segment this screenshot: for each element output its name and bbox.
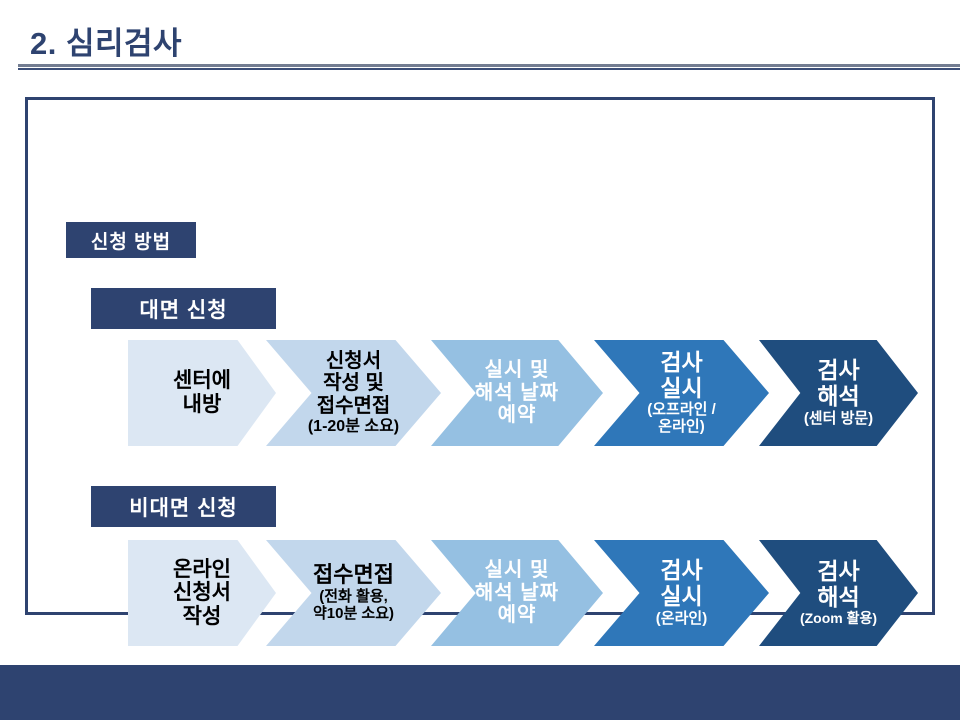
flow-step-online-3-main: 실시 및 해석 날짜 예약: [475, 559, 559, 626]
flow-step-online-3: 실시 및 해석 날짜 예약: [431, 540, 603, 646]
page-title: 2. 심리검사: [30, 18, 182, 63]
flow-step-offline-3-main: 실시 및 해석 날짜 예약: [475, 359, 559, 426]
flow-step-online-4: 검사 실시 (온라인): [594, 540, 769, 646]
footer-bar: [0, 665, 960, 720]
flow-step-offline-1: 센터에 내방: [128, 340, 276, 446]
flow-step-online-5-main: 검사 해석: [817, 559, 859, 611]
title-divider-thin: [18, 68, 960, 70]
flow-step-offline-4-sub: (오프라인 / 온라인): [647, 402, 716, 436]
flow-step-offline-5-sub: (센터 방문): [804, 411, 873, 428]
flow-online: 온라인 신청서 작성 접수면접 (전화 활용, 약10분 소요) 실시 및 해석…: [128, 540, 918, 650]
section-badge-application-method: 신청 방법: [66, 222, 196, 258]
title-divider: [18, 64, 960, 70]
flow-step-offline-5: 검사 해석 (센터 방문): [759, 340, 918, 446]
flow-step-offline-5-main: 검사 해석: [817, 358, 859, 410]
flow-step-offline-3: 실시 및 해석 날짜 예약: [431, 340, 603, 446]
flow-step-offline-1-main: 센터에 내방: [173, 369, 231, 416]
title-divider-thick: [18, 64, 960, 67]
flow-step-online-4-main: 검사 실시: [660, 558, 702, 610]
flow-step-offline-2-main: 신청서 작성 및 접수면접: [317, 350, 391, 417]
flow-step-online-2-main: 접수면접: [313, 563, 394, 588]
flow-step-offline-4: 검사 실시 (오프라인 / 온라인): [594, 340, 769, 446]
flow-step-online-1-main: 온라인 신청서 작성: [173, 558, 231, 629]
flow-offline: 센터에 내방 신청서 작성 및 접수면접 (1-20분 소요) 실시 및 해석 …: [128, 340, 918, 450]
flow-step-offline-4-main: 검사 실시: [660, 350, 702, 402]
flow-step-offline-2: 신청서 작성 및 접수면접 (1-20분 소요): [266, 340, 441, 446]
flow-step-online-5-sub: (Zoom 활용): [800, 611, 877, 627]
flow-step-online-1: 온라인 신청서 작성: [128, 540, 276, 646]
flow-step-online-2: 접수면접 (전화 활용, 약10분 소요): [266, 540, 441, 646]
flow-step-online-2-sub: (전화 활용, 약10분 소요): [313, 589, 394, 623]
content-frame: 신청 방법 대면 신청 센터에 내방 신청서 작성 및 접수면접 (1-20분 …: [25, 97, 935, 615]
flow-step-online-5: 검사 해석 (Zoom 활용): [759, 540, 918, 646]
flow-step-online-4-sub: (온라인): [656, 611, 707, 628]
group-badge-online-application: 비대면 신청: [91, 486, 276, 527]
flow-step-offline-2-sub: (1-20분 소요): [308, 418, 399, 436]
group-badge-offline-application: 대면 신청: [91, 288, 276, 329]
